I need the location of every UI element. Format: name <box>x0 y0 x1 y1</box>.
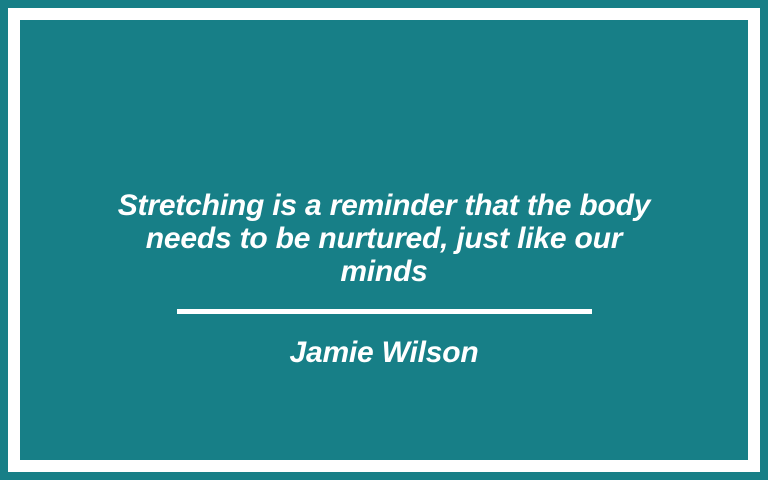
quote-card: Stretching is a reminder that the body n… <box>0 0 768 480</box>
quote-divider <box>177 309 592 314</box>
quote-text: Stretching is a reminder that the body n… <box>105 189 663 288</box>
quote-author: Jamie Wilson <box>289 336 478 370</box>
quote-content: Stretching is a reminder that the body n… <box>84 189 684 370</box>
